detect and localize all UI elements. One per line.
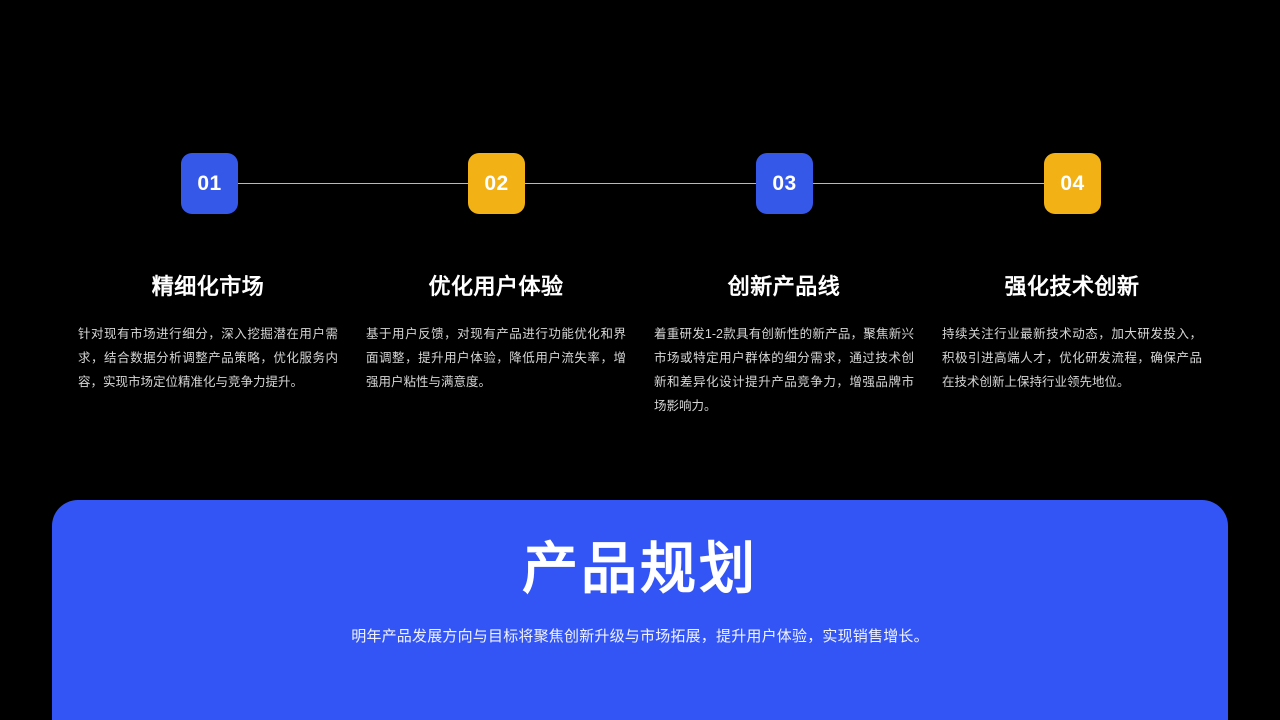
content-column-2-title: 优化用户体验 [366, 274, 626, 300]
timeline-badge-01[interactable]: 01 [181, 153, 238, 214]
content-column-3-body: 着重研发1-2款具有创新性的新产品，聚焦新兴市场或特定用户群体的细分需求，通过技… [654, 322, 914, 418]
timeline-badge-04[interactable]: 04 [1044, 153, 1101, 214]
content-column-4-body: 持续关注行业最新技术动态，加大研发投入，积极引进高端人才，优化研发流程，确保产品… [942, 322, 1202, 394]
content-column-1-body: 针对现有市场进行细分，深入挖掘潜在用户需求，结合数据分析调整产品策略，优化服务内… [78, 322, 338, 394]
timeline: 01 02 03 04 [0, 153, 1280, 215]
content-column-1-title: 精细化市场 [78, 274, 338, 300]
content-column-4: 强化技术创新 持续关注行业最新技术动态，加大研发投入，积极引进高端人才，优化研发… [928, 274, 1216, 418]
content-column-2: 优化用户体验 基于用户反馈，对现有产品进行功能优化和界面调整，提升用户体验，降低… [352, 274, 640, 418]
content-columns: 精细化市场 针对现有市场进行细分，深入挖掘潜在用户需求，结合数据分析调整产品策略… [0, 274, 1280, 418]
timeline-badge-01-label: 01 [197, 173, 221, 194]
content-column-3: 创新产品线 着重研发1-2款具有创新性的新产品，聚焦新兴市场或特定用户群体的细分… [640, 274, 928, 418]
timeline-badge-04-label: 04 [1060, 173, 1084, 194]
content-column-4-title: 强化技术创新 [942, 274, 1202, 300]
bottom-banner: 产品规划 明年产品发展方向与目标将聚焦创新升级与市场拓展，提升用户体验，实现销售… [52, 500, 1228, 720]
content-column-3-title: 创新产品线 [654, 274, 914, 300]
slide-root: 01 02 03 04 精细化市场 针对现有市场进行细分，深入挖掘潜在用户需求，… [0, 0, 1280, 720]
timeline-badge-03-label: 03 [772, 173, 796, 194]
banner-title: 产品规划 [52, 538, 1228, 600]
timeline-badge-03[interactable]: 03 [756, 153, 813, 214]
banner-subtitle: 明年产品发展方向与目标将聚焦创新升级与市场拓展，提升用户体验，实现销售增长。 [52, 626, 1228, 647]
content-column-1: 精细化市场 针对现有市场进行细分，深入挖掘潜在用户需求，结合数据分析调整产品策略… [64, 274, 352, 418]
timeline-badge-02-label: 02 [484, 173, 508, 194]
timeline-connector-line [238, 183, 1100, 184]
timeline-badge-02[interactable]: 02 [468, 153, 525, 214]
content-column-2-body: 基于用户反馈，对现有产品进行功能优化和界面调整，提升用户体验，降低用户流失率，增… [366, 322, 626, 394]
